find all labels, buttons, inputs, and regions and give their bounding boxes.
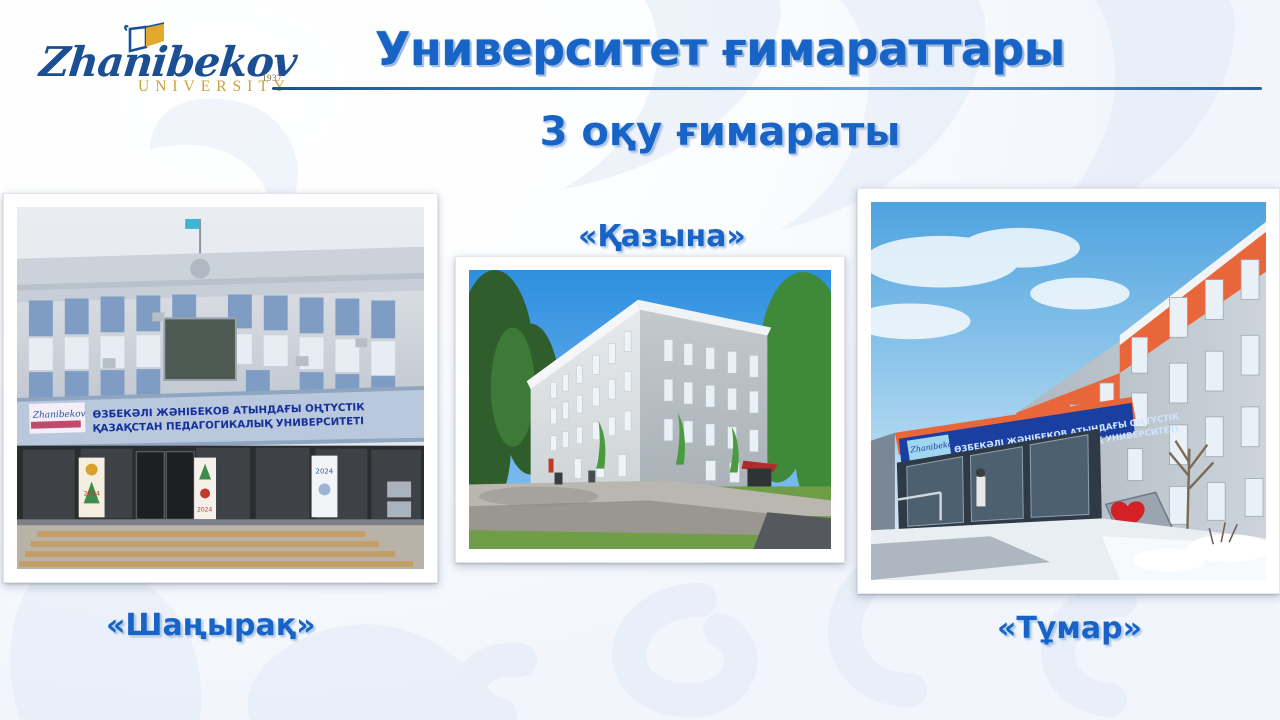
slide-canvas: Zhanibekov UNIVERSITY 1937 Университет ғ… [0,0,1280,720]
university-logo: Zhanibekov UNIVERSITY 1937 [34,18,284,100]
svg-text:2024: 2024 [197,506,212,513]
header-divider-rule [272,87,1262,90]
svg-text:Zhanibekov: Zhanibekov [32,409,86,420]
kazyna-photo-illustration [469,270,831,549]
caption-kazyna: «Қазына» [578,219,746,254]
caption-tumar: «Тұмар» [997,611,1142,646]
page-subtitle: 3 оқу ғимараты [340,108,1100,156]
building-photo-tumar: Zhanibekov ӨЗБЕКӘЛІ ЖӘНІБЕКОВ АТЫНДАҒЫ О… [857,188,1280,594]
shanyrak-photo-illustration: Zhanibekov ӨЗБЕКӘЛІ ЖӘНІБЕКОВ АТЫНДАҒЫ О… [17,207,424,569]
tumar-photo-illustration: Zhanibekov ӨЗБЕКӘЛІ ЖӘНІБЕКОВ АТЫНДАҒЫ О… [871,202,1266,580]
svg-text:2024: 2024 [84,489,100,497]
page-title: Университет ғимараттары [340,22,1100,76]
building-photo-shanyrak: Zhanibekov ӨЗБЕКӘЛІ ЖӘНІБЕКОВ АТЫНДАҒЫ О… [3,193,438,583]
caption-shanyrak: «Шаңырақ» [106,608,316,643]
logo-year-text: 1937 [262,73,282,83]
svg-text:2024: 2024 [316,468,334,476]
building-photo-kazyna [455,256,845,563]
